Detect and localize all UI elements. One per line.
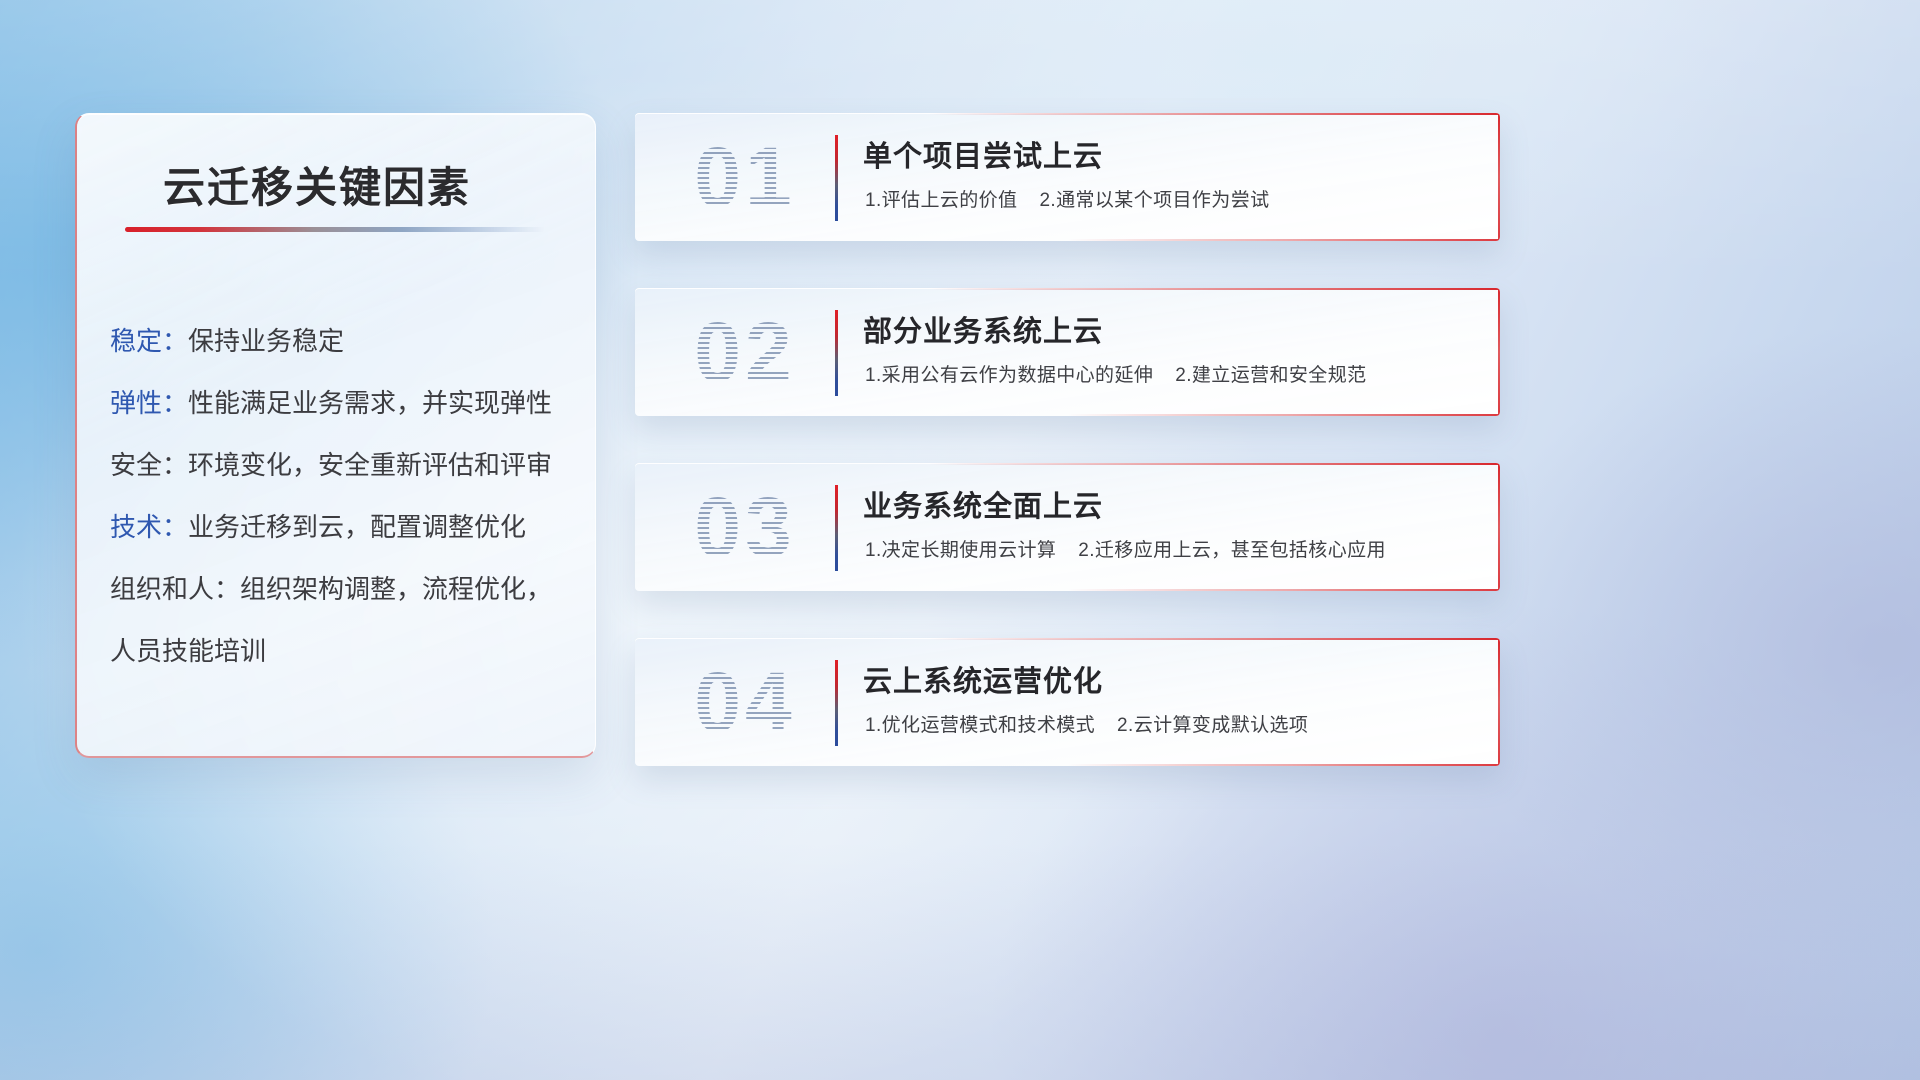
factor-label: 组织和人： [110,574,240,604]
factor-text: 环境变化，安全重新评估和评审 [188,450,552,480]
factor-row: 弹性：性能满足业务需求，并实现弹性 [110,372,569,434]
migration-steps-list: 01单个项目尝试上云1.评估上云的价值2.通常以某个项目作为尝试02部分业务系统… [635,113,1500,813]
card-bottom-accent-line [635,414,1500,416]
step-card[interactable]: 04云上系统运营优化1.优化运营模式和技术模式2.云计算变成默认选项 [635,638,1500,766]
step-card[interactable]: 03业务系统全面上云1.决定长期使用云计算2.迁移应用上云，甚至包括核心应用 [635,463,1500,591]
factor-text: 组织架构调整，流程优化， [240,574,552,604]
step-title: 云上系统运营优化 [863,658,1103,700]
factor-row: 稳定：保持业务稳定 [110,310,569,372]
card-right-accent-line [1498,463,1500,591]
factor-row: 组织和人：组织架构调整，流程优化， [110,558,569,620]
step-point-2: 2.云计算变成默认选项 [1117,715,1308,736]
card-bottom-accent-line [635,764,1500,766]
factor-text: 业务迁移到云，配置调整优化 [188,512,526,542]
step-point-1: 1.决定长期使用云计算 [865,540,1056,561]
card-bottom-accent-line [635,589,1500,591]
factor-list: 稳定：保持业务稳定弹性：性能满足业务需求，并实现弹性安全：环境变化，安全重新评估… [110,310,569,682]
factor-label: 稳定： [110,326,188,356]
step-divider-bar [835,310,838,396]
step-point-2: 2.迁移应用上云，甚至包括核心应用 [1078,540,1386,561]
step-divider-bar [835,135,838,221]
card-top-accent-line [635,638,1500,640]
step-subtitle: 1.优化运营模式和技术模式2.云计算变成默认选项 [865,710,1308,737]
step-title: 单个项目尝试上云 [863,133,1103,175]
factor-row: 安全：环境变化，安全重新评估和评审 [110,434,569,496]
step-number: 03 [661,477,829,577]
step-card[interactable]: 02部分业务系统上云1.采用公有云作为数据中心的延伸2.建立运营和安全规范 [635,288,1500,416]
card-top-accent-line [635,288,1500,290]
factor-text: 保持业务稳定 [188,326,344,356]
page-title: 云迁移关键因素 [163,154,471,215]
factor-row: 人员技能培训 [110,620,569,682]
factor-label: 弹性： [110,388,188,418]
step-divider-bar [835,660,838,746]
step-subtitle: 1.评估上云的价值2.通常以某个项目作为尝试 [865,185,1270,212]
step-number: 04 [661,652,829,752]
step-point-2: 2.通常以某个项目作为尝试 [1039,190,1269,211]
step-number: 02 [661,302,829,402]
card-right-accent-line [1498,638,1500,766]
factor-row: 技术：业务迁移到云，配置调整优化 [110,496,569,558]
step-point-1: 1.优化运营模式和技术模式 [865,715,1095,736]
factor-label: 技术： [110,512,188,542]
factor-text: 人员技能培训 [110,636,266,666]
step-title: 部分业务系统上云 [863,308,1103,350]
key-factors-panel: 云迁移关键因素 稳定：保持业务稳定弹性：性能满足业务需求，并实现弹性安全：环境变… [75,113,596,758]
card-top-accent-line [635,113,1500,115]
factor-label: 安全： [110,450,188,480]
step-point-1: 1.评估上云的价值 [865,190,1017,211]
step-subtitle: 1.采用公有云作为数据中心的延伸2.建立运营和安全规范 [865,360,1367,387]
step-title: 业务系统全面上云 [863,483,1103,525]
title-underline-gradient [125,227,545,232]
card-right-accent-line [1498,288,1500,416]
card-right-accent-line [1498,113,1500,241]
step-number: 01 [661,127,829,227]
step-point-2: 2.建立运营和安全规范 [1175,365,1366,386]
card-bottom-accent-line [635,239,1500,241]
factor-text: 性能满足业务需求，并实现弹性 [188,388,552,418]
step-point-1: 1.采用公有云作为数据中心的延伸 [865,365,1153,386]
step-divider-bar [835,485,838,571]
card-top-accent-line [635,463,1500,465]
step-card[interactable]: 01单个项目尝试上云1.评估上云的价值2.通常以某个项目作为尝试 [635,113,1500,241]
step-subtitle: 1.决定长期使用云计算2.迁移应用上云，甚至包括核心应用 [865,535,1386,562]
